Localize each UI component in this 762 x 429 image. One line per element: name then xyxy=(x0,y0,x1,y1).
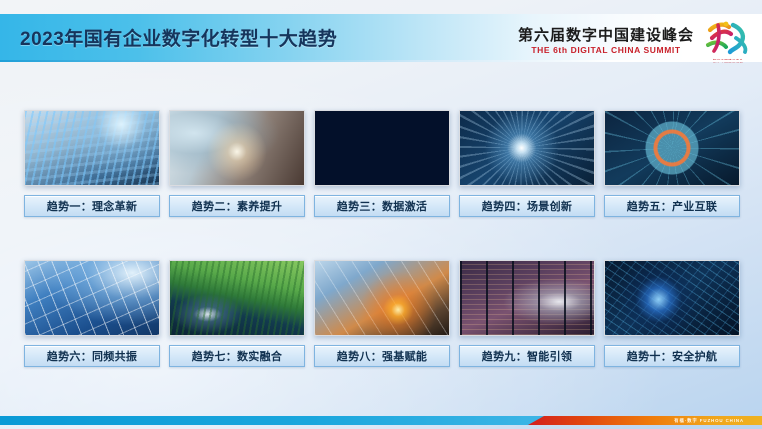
page-title: 2023年国有企业数字化转型十大趋势 xyxy=(20,24,337,51)
summit-title-block: 第六届数字中国建设峰会 THE 6th DIGITAL CHINA SUMMIT xyxy=(518,28,694,55)
trend-label-box: 趋势八：强基赋能 xyxy=(314,345,450,367)
trend-thumbnail xyxy=(604,260,740,336)
trend-label-box: 趋势六：同频共振 xyxy=(24,345,160,367)
digital-china-summit-logo-icon: 数字中国建设峰会 xyxy=(702,18,754,64)
footer-caption: 有福·数字 FUZHOU CHINA xyxy=(674,418,744,424)
digital-keyboard-image xyxy=(25,111,159,185)
robot-city-window-image xyxy=(460,261,594,335)
trend-label-box: 趋势一：理念革新 xyxy=(24,195,160,217)
trend-card[interactable]: 趋势四：场景创新 xyxy=(459,110,595,258)
trend-thumbnail xyxy=(24,260,160,336)
trend-card[interactable]: 趋势二：素养提升 xyxy=(169,110,305,258)
trend-label: 趋势十：安全护航 xyxy=(627,348,717,364)
aerial-forest-water-image xyxy=(170,261,304,335)
trend-label: 趋势二：素养提升 xyxy=(192,198,282,214)
trend-label: 趋势一：理念革新 xyxy=(47,198,137,214)
iot-network-image xyxy=(605,111,739,185)
trend-thumbnail xyxy=(169,110,305,186)
trend-thumbnail xyxy=(604,110,740,186)
trend-label-box: 趋势九：智能引领 xyxy=(459,345,595,367)
trend-label: 趋势九：智能引领 xyxy=(482,348,572,364)
trend-thumbnail xyxy=(459,260,595,336)
summit-title-en: THE 6th DIGITAL CHINA SUMMIT xyxy=(518,46,694,55)
trend-label: 趋势六：同频共振 xyxy=(47,348,137,364)
trend-label: 趋势五：产业互联 xyxy=(627,198,717,214)
trend-label: 趋势七：数实融合 xyxy=(192,348,282,364)
trend-card[interactable]: 趋势十：安全护航 xyxy=(604,260,740,408)
trend-thumbnail xyxy=(459,110,595,186)
trend-thumbnail xyxy=(24,110,160,186)
trend-thumbnail xyxy=(314,260,450,336)
trend-card[interactable]: 趋势三：数据激活 xyxy=(314,110,450,258)
cyber-shield-image xyxy=(605,261,739,335)
summit-title-cn: 第六届数字中国建设峰会 xyxy=(518,28,694,43)
slide-footer: 有福·数字 FUZHOU CHINA xyxy=(0,409,762,429)
slide-header: 2023年国有企业数字化转型十大趋势 第六届数字中国建设峰会 THE 6th D… xyxy=(0,14,762,60)
presentation-slide: 2023年国有企业数字化转型十大趋势 第六届数字中国建设峰会 THE 6th D… xyxy=(0,0,762,429)
trend-card[interactable]: 趋势七：数实融合 xyxy=(169,260,305,408)
trend-label-box: 趋势五：产业互联 xyxy=(604,195,740,217)
trend-label: 趋势八：强基赋能 xyxy=(337,348,427,364)
trend-card-grid: 趋势一：理念革新 趋势二：素养提升 趋势三：数据激活 趋势四：场 xyxy=(24,110,738,410)
trend-label-box: 趋势十：安全护航 xyxy=(604,345,740,367)
solar-panel-image xyxy=(25,261,159,335)
trend-label-box: 趋势二：素养提升 xyxy=(169,195,305,217)
trend-card[interactable]: 趋势五：产业互联 xyxy=(604,110,740,258)
robotic-hand-image xyxy=(170,111,304,185)
trend-card[interactable]: 趋势一：理念革新 xyxy=(24,110,160,258)
trend-label-box: 趋势七：数实融合 xyxy=(169,345,305,367)
network-burst-image xyxy=(460,111,594,185)
trend-card[interactable]: 趋势九：智能引领 xyxy=(459,260,595,408)
trend-label: 趋势四：场景创新 xyxy=(482,198,572,214)
data-stream-image xyxy=(315,111,449,185)
trend-card[interactable]: 趋势六：同频共振 xyxy=(24,260,160,408)
trend-label-box: 趋势三：数据激活 xyxy=(314,195,450,217)
trend-thumbnail xyxy=(314,110,450,186)
header-divider xyxy=(0,60,762,62)
trend-thumbnail xyxy=(169,260,305,336)
summit-branding: 第六届数字中国建设峰会 THE 6th DIGITAL CHINA SUMMIT xyxy=(518,18,754,64)
trend-card[interactable]: 趋势八：强基赋能 xyxy=(314,260,450,408)
footer-blue-bar xyxy=(0,416,560,425)
solar-sunset-image xyxy=(315,261,449,335)
trend-label: 趋势三：数据激活 xyxy=(337,198,427,214)
trend-label-box: 趋势四：场景创新 xyxy=(459,195,595,217)
